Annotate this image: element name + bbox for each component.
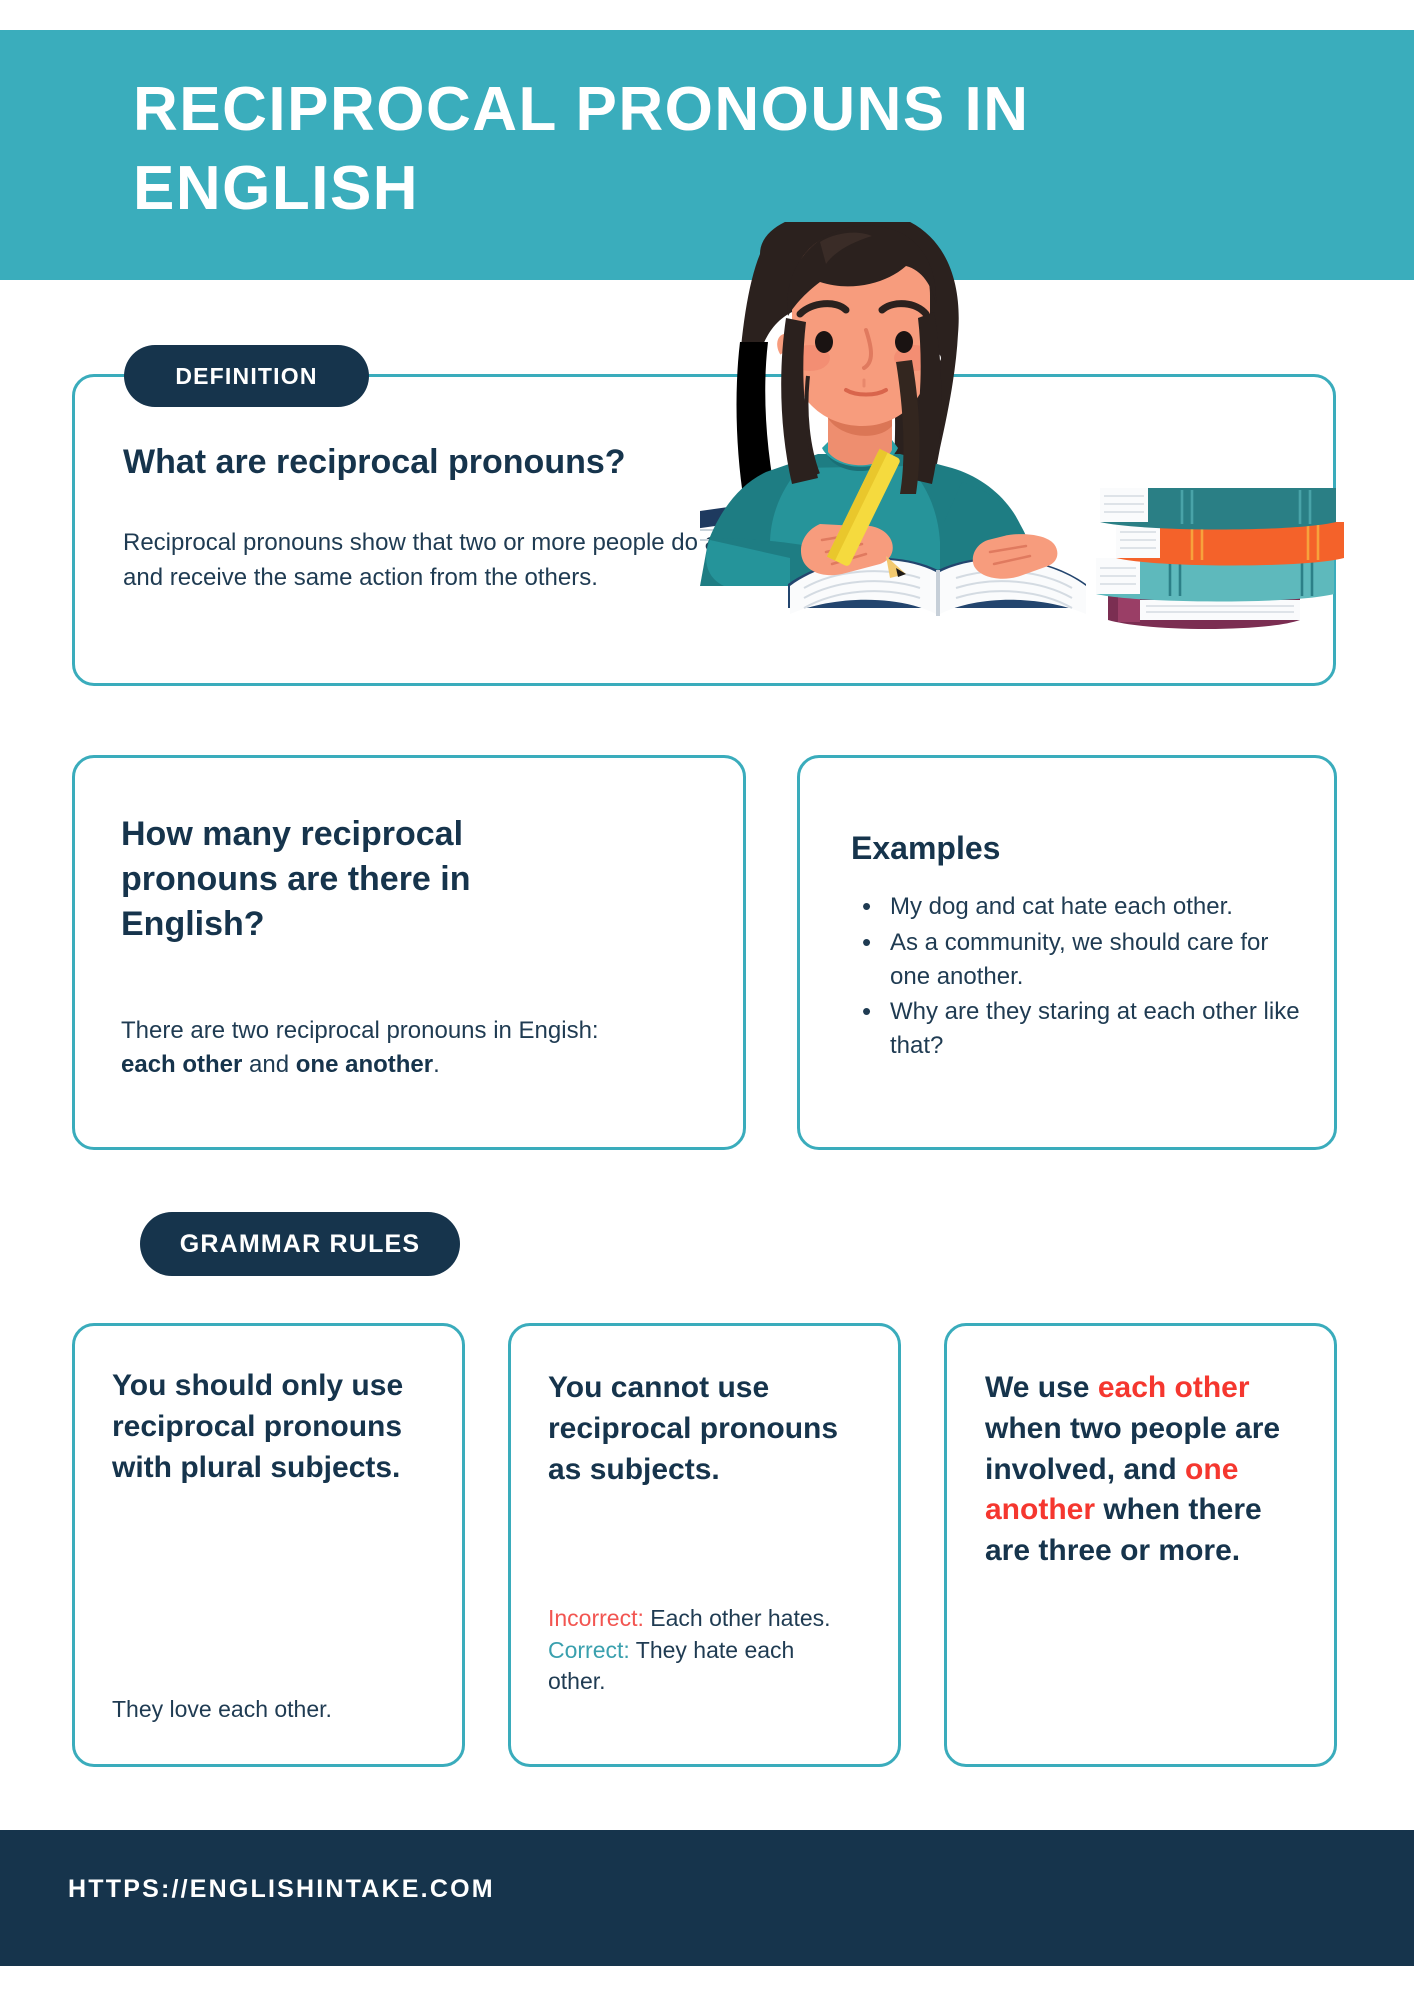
- grammar-rules-badge: GRAMMAR RULES: [140, 1212, 460, 1276]
- rule-3-highlight-each-other: each other: [1098, 1371, 1250, 1404]
- rule-3-heading: We use each other when two people are in…: [985, 1368, 1295, 1572]
- rule-1-body: They love each other.: [112, 1694, 412, 1726]
- correct-label: Correct:: [548, 1637, 630, 1663]
- page-title: RECIPROCAL PRONOUNS IN ENGLISH: [133, 70, 1313, 229]
- definition-heading: What are reciprocal pronouns?: [123, 443, 823, 482]
- incorrect-text: Each other hates.: [644, 1605, 831, 1631]
- term-each-other: each other: [121, 1051, 242, 1078]
- how-many-body: There are two reciprocal pronouns in Eng…: [121, 1014, 651, 1082]
- list-item: As a community, we should care for one a…: [862, 926, 1302, 994]
- list-item: Why are they staring at each other like …: [862, 995, 1302, 1063]
- eye-left: [815, 331, 833, 353]
- student-studying-illustration: [700, 222, 1414, 642]
- rule-1-heading: You should only use reciprocal pronouns …: [112, 1366, 412, 1488]
- eye-right: [895, 331, 913, 353]
- rule-2-body: Incorrect: Each other hates.Correct: The…: [548, 1603, 858, 1698]
- examples-heading: Examples: [851, 830, 1000, 867]
- how-many-body-prefix: There are two reciprocal pronouns in Eng…: [121, 1017, 599, 1044]
- book-stack-icon: [1096, 488, 1344, 629]
- how-many-body-middle: and: [242, 1051, 295, 1078]
- rule-3-part1: We use: [985, 1371, 1098, 1404]
- how-many-heading: How many reciprocal pronouns are there i…: [121, 812, 621, 948]
- definition-badge: DEFINITION: [124, 345, 369, 407]
- footer-url: HTTPS://ENGLISHINTAKE.COM: [68, 1875, 495, 1904]
- how-many-body-suffix: .: [433, 1051, 440, 1078]
- incorrect-label: Incorrect:: [548, 1605, 644, 1631]
- examples-list: My dog and cat hate each other. As a com…: [862, 890, 1302, 1065]
- term-one-another: one another: [296, 1051, 433, 1078]
- rule-2-heading: You cannot use reciprocal pronouns as su…: [548, 1368, 848, 1490]
- list-item: My dog and cat hate each other.: [862, 890, 1302, 924]
